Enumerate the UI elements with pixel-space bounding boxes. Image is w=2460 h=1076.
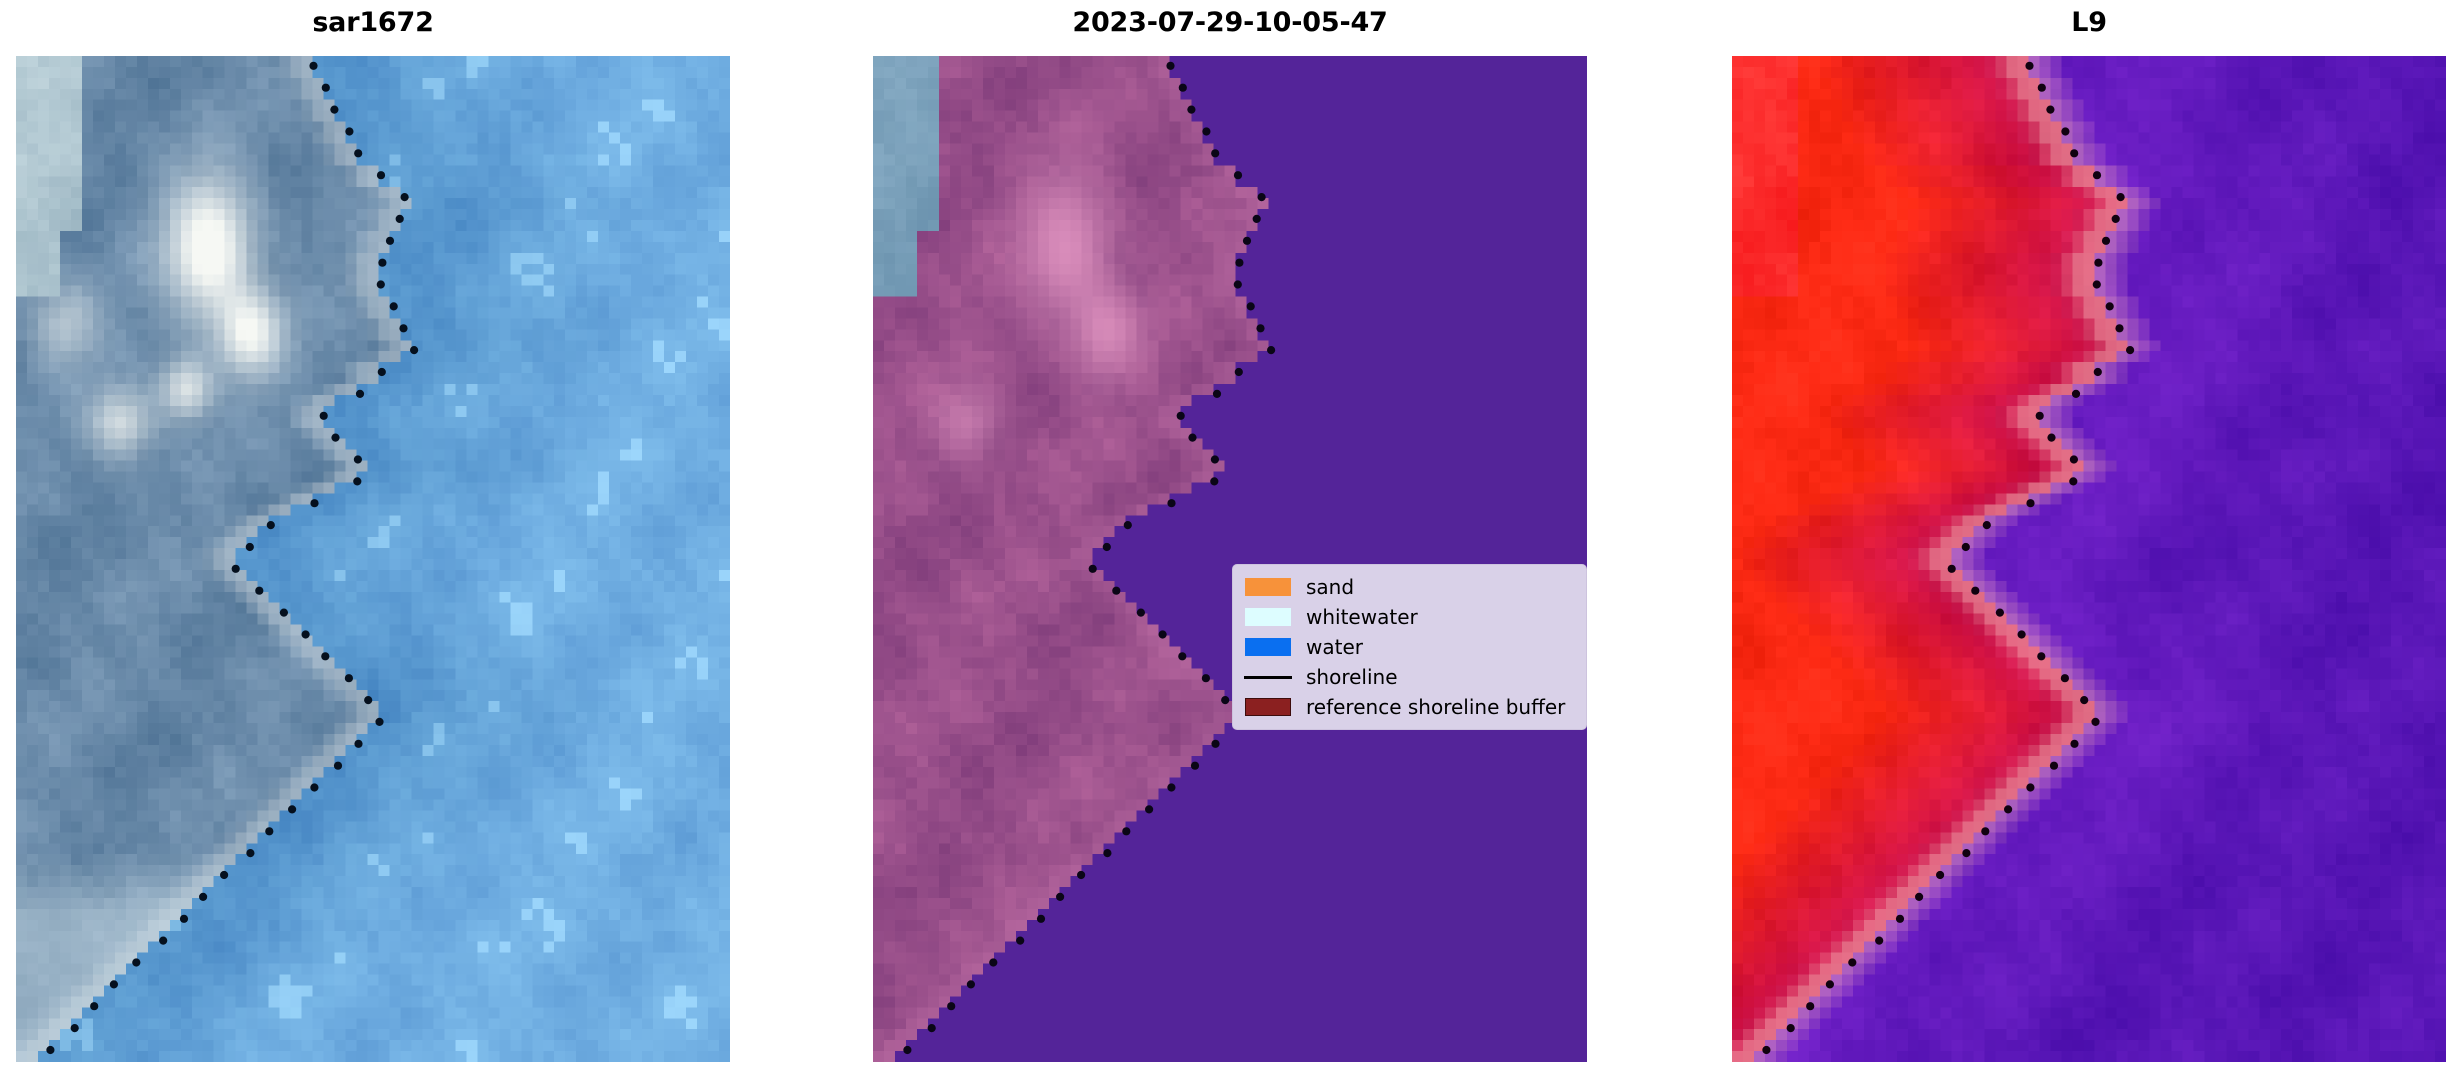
image-panel-l9[interactable] <box>1732 56 2446 1062</box>
map-legend[interactable]: sand whitewater water shoreline referenc… <box>1232 564 1587 730</box>
legend-item-reference-shoreline-buffer[interactable]: reference shoreline buffer <box>1242 692 1578 722</box>
legend-label-shoreline: shoreline <box>1306 667 1398 687</box>
sand-swatch-icon <box>1242 572 1294 602</box>
figure-canvas: sar1672 2023-07-29-10-05-47 L9 sand whit… <box>0 0 2460 1076</box>
panel-title-sar1672: sar1672 <box>16 6 730 40</box>
panel-title-timestamp: 2023-07-29-10-05-47 <box>873 6 1587 40</box>
water-swatch-icon <box>1242 632 1294 662</box>
whitewater-swatch-icon <box>1242 602 1294 632</box>
legend-item-shoreline[interactable]: shoreline <box>1242 662 1578 692</box>
legend-label-water: water <box>1306 637 1363 657</box>
image-panel-sar1672[interactable] <box>16 56 730 1062</box>
legend-label-reference-shoreline-buffer: reference shoreline buffer <box>1306 697 1565 717</box>
legend-item-sand[interactable]: sand <box>1242 572 1578 602</box>
satellite-raster-sar1672 <box>16 56 730 1062</box>
image-panel-classified[interactable] <box>873 56 1587 1062</box>
satellite-raster-l9 <box>1732 56 2446 1062</box>
legend-item-water[interactable]: water <box>1242 632 1578 662</box>
shoreline-line-icon <box>1242 662 1294 692</box>
classified-raster <box>873 56 1587 1062</box>
panel-title-l9: L9 <box>1732 6 2446 40</box>
reference-buffer-swatch-icon <box>1242 692 1294 722</box>
legend-label-sand: sand <box>1306 577 1354 597</box>
legend-label-whitewater: whitewater <box>1306 607 1418 627</box>
legend-item-whitewater[interactable]: whitewater <box>1242 602 1578 632</box>
